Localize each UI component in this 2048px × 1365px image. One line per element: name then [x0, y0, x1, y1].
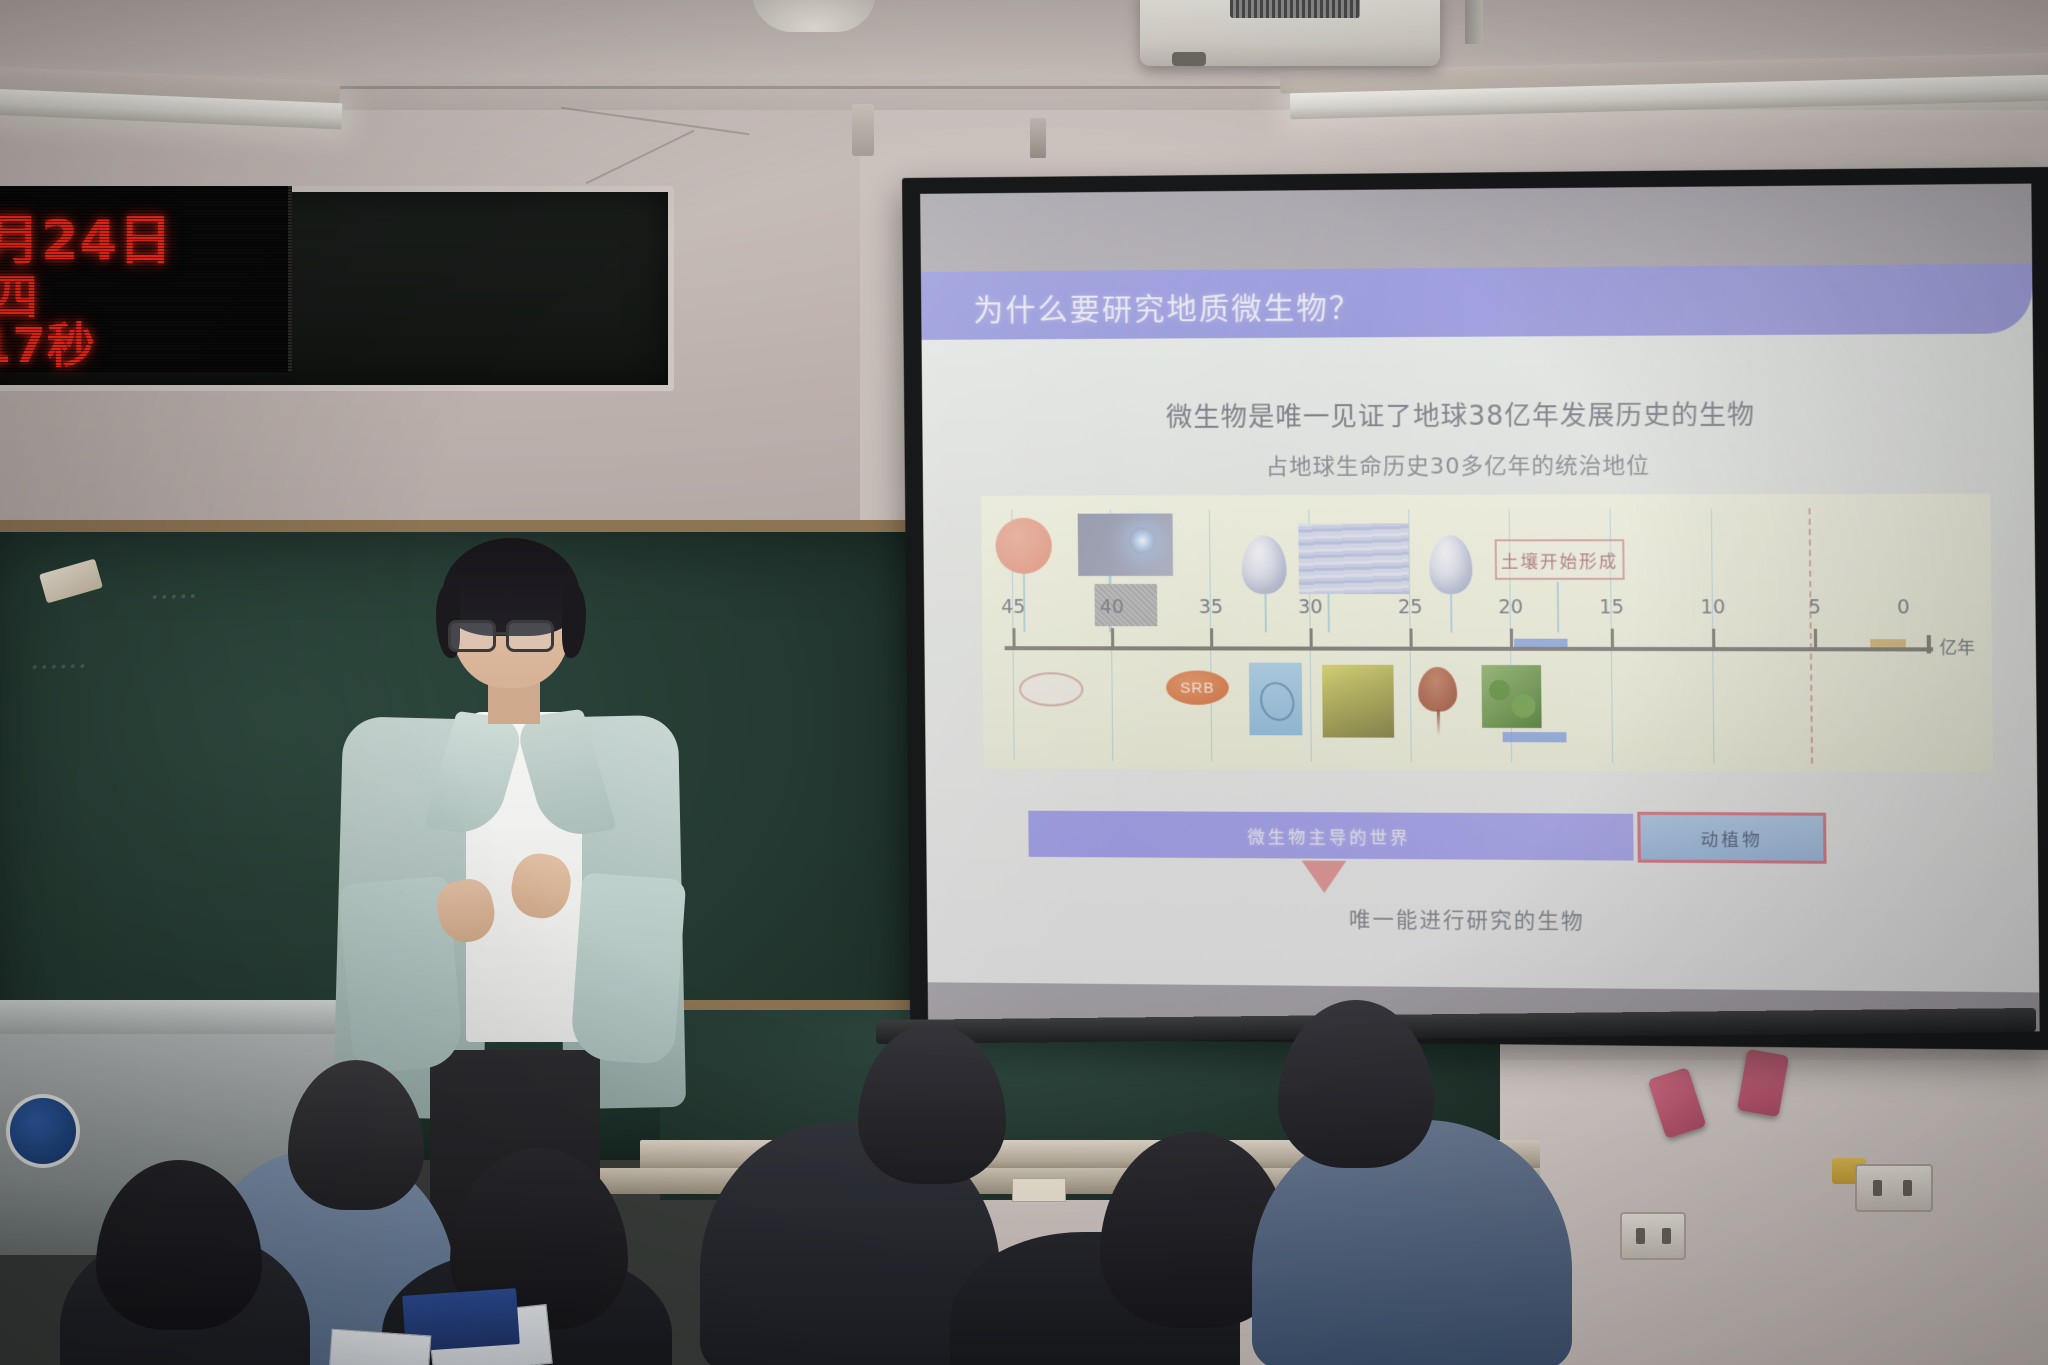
soil-formation-text: 土壤开始形成 [1501, 547, 1619, 572]
lecture-photo-scene: 月24日 四 17秒 ····· ······ 为什么要研究地质微生物？ 微生物… [0, 0, 2048, 1365]
university-emblem [10, 1098, 76, 1164]
chalk-writing: ······ [30, 649, 88, 685]
timeline-axis-end [1927, 635, 1931, 653]
slide-body-line-2: 占地球生命历史30多亿年的统治地位 [923, 446, 2035, 482]
microbe-dominated-bar: 微生物主导的世界 [1028, 811, 1633, 861]
animals-plants-box: 动植物 [1637, 812, 1826, 864]
rail-paper [1012, 1178, 1066, 1202]
jellyfish-image [1418, 667, 1457, 712]
axis-tick-40: 40 [1100, 596, 1125, 618]
strata-image [1298, 523, 1409, 594]
axis-tick-0: 0 [1897, 596, 1910, 619]
presenter-sleeve-right [570, 873, 687, 1066]
moss-land-image [1322, 665, 1394, 738]
projector-mount [1465, 0, 1483, 44]
timeline-axis-unit: 亿年 [1939, 633, 1975, 659]
axis-tick-45: 45 [1001, 596, 1025, 618]
fossil-image [1249, 663, 1303, 736]
timeline-panel: 土壤开始形成 45 40 35 30 [981, 494, 1993, 773]
wall-socket-1 [1855, 1164, 1933, 1212]
axis-tick-35: 35 [1198, 596, 1223, 618]
axis-tick-30: 30 [1298, 596, 1323, 618]
wall-device [852, 104, 874, 156]
down-arrow-icon [1302, 861, 1347, 894]
early-earth-image [1078, 514, 1173, 576]
axis-tick-5: 5 [1808, 596, 1821, 618]
slide-body-line-1: 微生物是唯一见证了地球38亿年发展历史的生物 [922, 393, 2034, 435]
slide-footer-text: 唯一能进行研究的生物 [927, 900, 2039, 939]
axis-tick-15: 15 [1599, 596, 1624, 618]
lower-marker-blue [1503, 732, 1567, 742]
timeline-leader [1557, 582, 1560, 633]
presentation-slide: 为什么要研究地质微生物？ 微生物是唯一见证了地球38亿年发展历史的生物 占地球生… [921, 264, 2039, 993]
led-clock-seconds: 17秒 [0, 306, 96, 376]
egg-image-1 [1242, 536, 1287, 595]
lectern-top [0, 1000, 360, 1034]
slide-title: 为什么要研究地质微生物？ [973, 283, 1362, 330]
timeline-leader [1264, 594, 1266, 632]
jellyfish-tail [1437, 709, 1440, 735]
timeline-leader [1450, 594, 1452, 632]
presenter-glasses-bridge [496, 632, 508, 635]
slide-letterbox-top [920, 184, 2032, 272]
presenter-glasses-right-lens [506, 620, 554, 652]
audience-paper [329, 1329, 432, 1365]
presenter-glasses-left-lens [448, 620, 496, 652]
timeline-axis [1005, 646, 1934, 651]
plant-leaf-image [1481, 665, 1541, 728]
projection-screen-surface: 为什么要研究地质微生物？ 微生物是唯一见证了地球38亿年发展历史的生物 占地球生… [920, 184, 2040, 1032]
wall-sensor [1030, 118, 1046, 158]
sun-icon [995, 518, 1052, 574]
projector-lens [1172, 52, 1206, 66]
soil-formation-label: 土壤开始形成 [1495, 539, 1625, 580]
primitive-life-ellipse [1019, 672, 1084, 706]
projection-screen: 为什么要研究地质微生物？ 微生物是唯一见证了地球38亿年发展历史的生物 占地球生… [902, 167, 2048, 1050]
animals-plants-label: 动植物 [1700, 825, 1762, 851]
srb-ellipse: SRB [1166, 671, 1229, 705]
chalk-writing: ····· [150, 579, 199, 615]
axis-tick-25: 25 [1398, 596, 1423, 618]
srb-label: SRB [1180, 679, 1214, 696]
timeline-guide-dashed [1809, 508, 1814, 763]
egg-image-2 [1429, 535, 1473, 594]
microbe-dominated-label: 微生物主导的世界 [1247, 822, 1410, 848]
projector-vent [1230, 0, 1360, 18]
axis-tick-10: 10 [1700, 596, 1725, 618]
wall-socket-2 [1620, 1212, 1686, 1260]
timeline-leader [1327, 594, 1329, 632]
axis-tick-20: 20 [1498, 596, 1523, 618]
